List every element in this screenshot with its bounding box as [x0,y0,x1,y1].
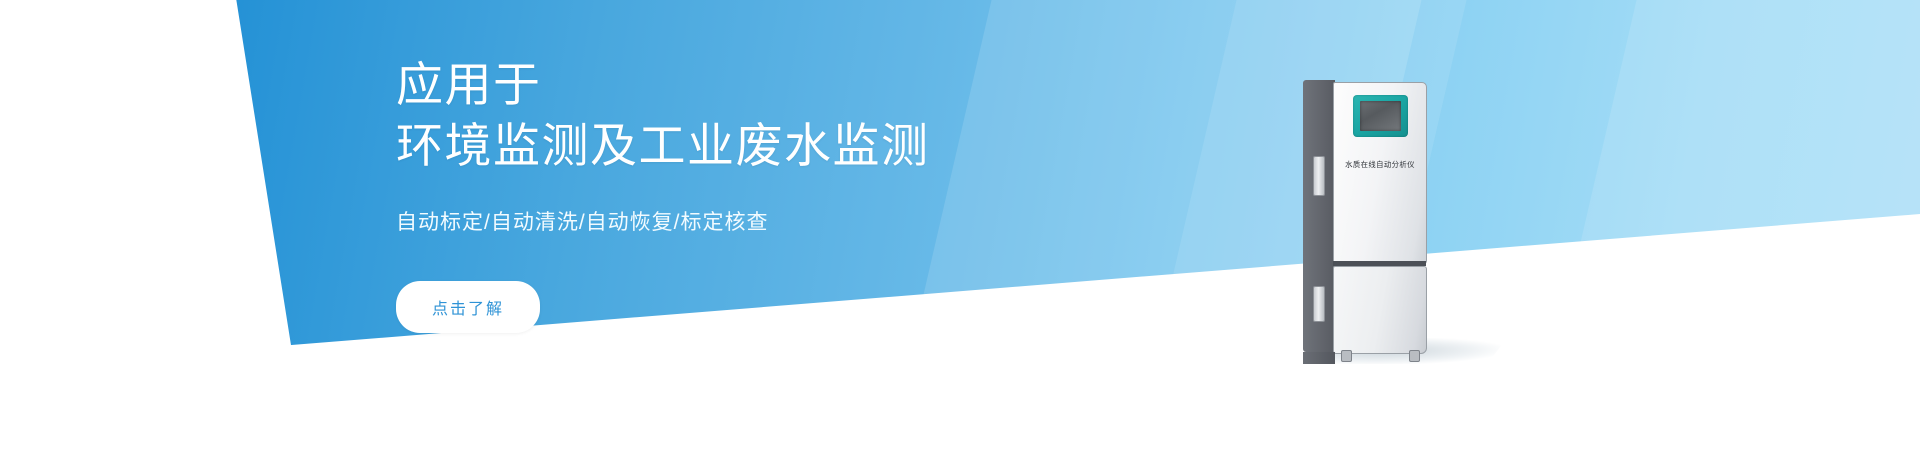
product-image-water-analyzer: 水质在线自动分析仪 [1303,80,1438,370]
cabinet-upper-door: 水质在线自动分析仪 [1333,82,1427,264]
banner-subtitle: 自动标定/自动清洗/自动恢复/标定核查 [396,206,1176,236]
cabinet-handle-upper [1313,156,1325,196]
learn-more-button[interactable]: 点击了解 [396,281,540,333]
display-screen [1360,101,1401,131]
hero-banner: 水质在线自动分析仪 应用于 环境监测及工业废水监测 自动标定/自动清洗/自动恢复… [0,0,1920,450]
cabinet-lower-drawer [1333,266,1427,354]
cabinet-side-panel [1303,80,1335,352]
caster-right [1409,350,1420,362]
caster-left [1341,350,1352,362]
page-title: 应用于 环境监测及工业废水监测 [396,54,1176,176]
screen-bezel [1353,95,1408,137]
cabinet-base [1303,352,1335,364]
bottom-white-wedge-fill [1160,330,1920,450]
cabinet-handle-lower [1313,286,1325,322]
headline-line-2: 环境监测及工业废水监测 [396,115,1176,176]
product-label: 水质在线自动分析仪 [1335,159,1425,170]
headline-line-1: 应用于 [396,54,1176,115]
banner-copy: 应用于 环境监测及工业废水监测 自动标定/自动清洗/自动恢复/标定核查 点击了解 [396,54,1176,333]
